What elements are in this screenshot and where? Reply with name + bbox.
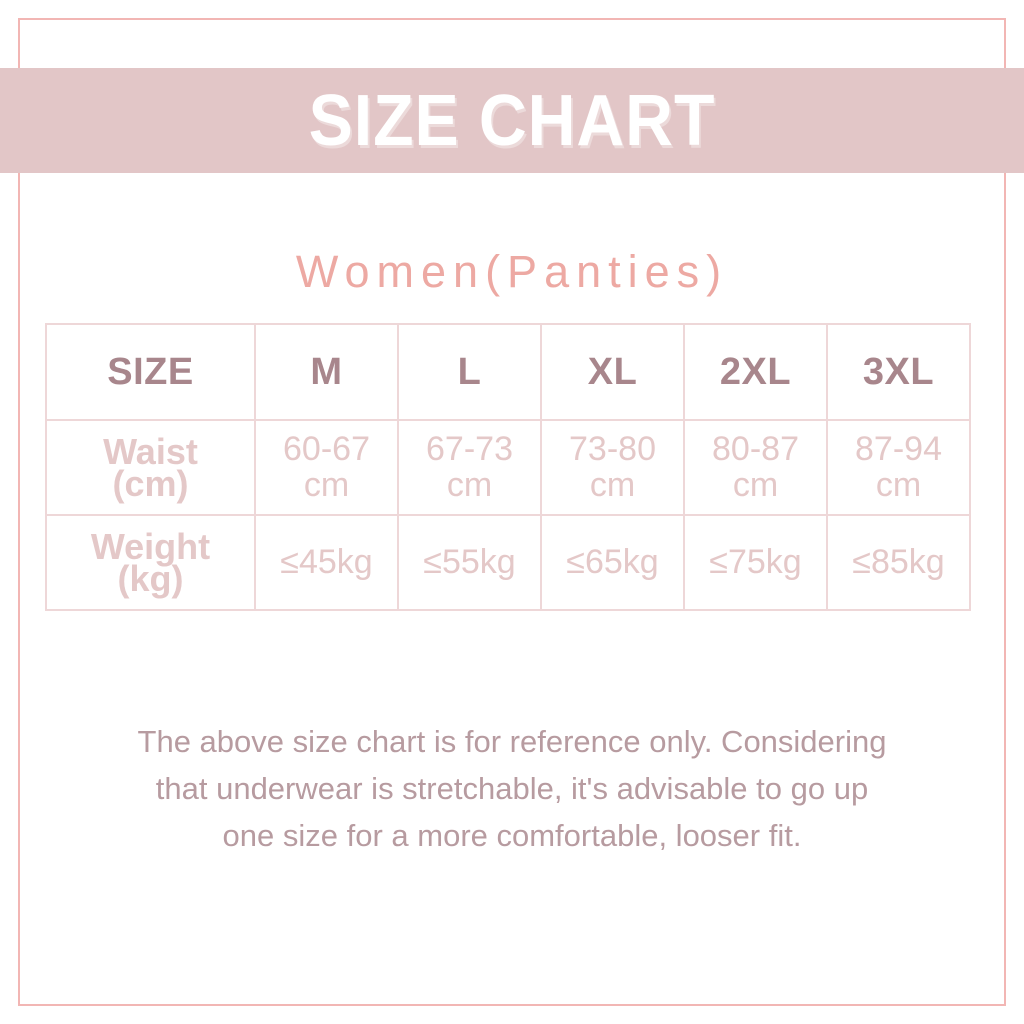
- row-label-waist-unit: (cm): [47, 465, 254, 503]
- waist-value-l-unit: cm: [447, 466, 492, 504]
- waist-value-l: 67-73 cm: [398, 420, 541, 515]
- size-chart-table: SIZE M L XL 2XL 3XL Waist (cm) 60-67 cm …: [45, 323, 971, 611]
- footnote-line-2: that underwear is stretchable, it's advi…: [62, 765, 962, 812]
- waist-value-m-range: 60-67: [256, 432, 397, 468]
- waist-value-3xl: 87-94 cm: [827, 420, 970, 515]
- header-cell-m: M: [255, 324, 398, 420]
- weight-value-3xl: ≤85kg: [827, 515, 970, 610]
- table-header-row: SIZE M L XL 2XL 3XL: [46, 324, 970, 420]
- weight-value-2xl: ≤75kg: [684, 515, 827, 610]
- footnote-disclaimer: The above size chart is for reference on…: [62, 718, 962, 859]
- table-row-waist: Waist (cm) 60-67 cm 67-73 cm 73-80 cm 80…: [46, 420, 970, 515]
- header-cell-2xl: 2XL: [684, 324, 827, 420]
- weight-value-l: ≤55kg: [398, 515, 541, 610]
- header-cell-xl: XL: [541, 324, 684, 420]
- waist-value-m-unit: cm: [304, 466, 349, 504]
- waist-value-l-range: 67-73: [399, 432, 540, 468]
- footnote-line-3: one size for a more comfortable, looser …: [62, 812, 962, 859]
- footnote-line-1: The above size chart is for reference on…: [62, 718, 962, 765]
- waist-value-m: 60-67 cm: [255, 420, 398, 515]
- header-cell-l: L: [398, 324, 541, 420]
- row-label-weight: Weight (kg): [46, 515, 255, 610]
- subtitle-category: Women(Panties): [0, 246, 1024, 298]
- waist-value-2xl-range: 80-87: [685, 432, 826, 468]
- row-label-weight-unit: (kg): [47, 560, 254, 598]
- title-banner: SIZE CHART: [0, 68, 1024, 173]
- header-cell-size: SIZE: [46, 324, 255, 420]
- weight-value-m: ≤45kg: [255, 515, 398, 610]
- page-title: SIZE CHART: [309, 85, 716, 157]
- size-chart-page: SIZE CHART Women(Panties) SIZE M L XL 2X…: [0, 0, 1024, 1024]
- waist-value-3xl-range: 87-94: [828, 432, 969, 468]
- header-cell-3xl: 3XL: [827, 324, 970, 420]
- waist-value-2xl-unit: cm: [733, 466, 778, 504]
- waist-value-2xl: 80-87 cm: [684, 420, 827, 515]
- waist-value-3xl-unit: cm: [876, 466, 921, 504]
- table-row-weight: Weight (kg) ≤45kg ≤55kg ≤65kg ≤75kg ≤85k…: [46, 515, 970, 610]
- weight-value-xl: ≤65kg: [541, 515, 684, 610]
- waist-value-xl: 73-80 cm: [541, 420, 684, 515]
- row-label-waist: Waist (cm): [46, 420, 255, 515]
- waist-value-xl-range: 73-80: [542, 432, 683, 468]
- waist-value-xl-unit: cm: [590, 466, 635, 504]
